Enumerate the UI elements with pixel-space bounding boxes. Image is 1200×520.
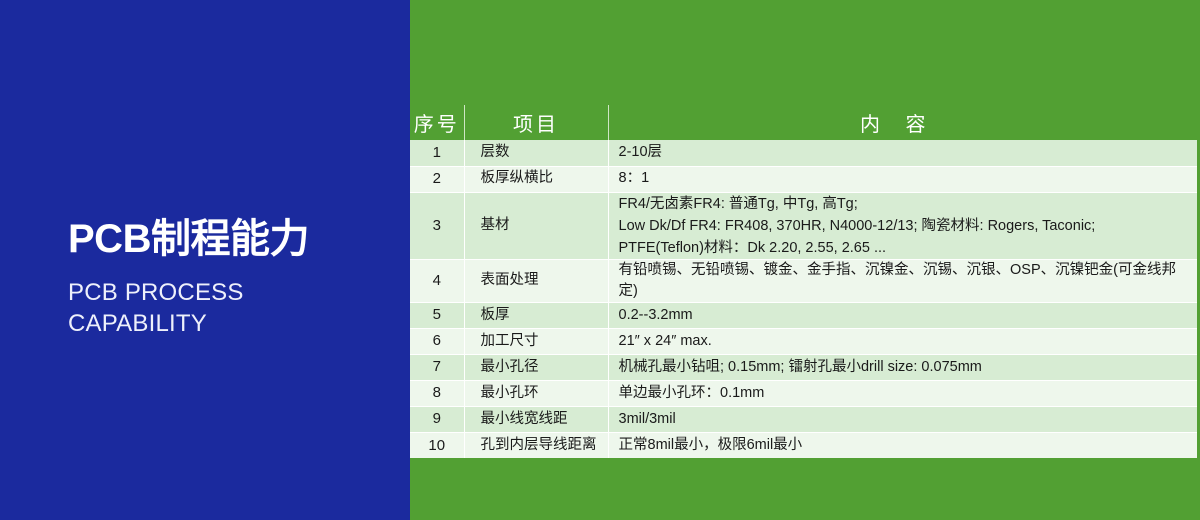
- table-row: 10孔到内层导线距离正常8mil最小，极限6mil最小: [410, 432, 1197, 458]
- cell-no: 2: [410, 166, 464, 192]
- table-header-row: 序号 项目 内 容: [410, 105, 1197, 140]
- cell-no: 5: [410, 302, 464, 328]
- title-block: PCB制程能力 PCB PROCESS CAPABILITY: [68, 218, 398, 339]
- cell-content: 8：1: [608, 166, 1197, 192]
- cell-content: 2-10层: [608, 140, 1197, 166]
- cell-content: 有铅喷锡、无铅喷锡、镀金、金手指、沉镍金、沉锡、沉银、OSP、沉镍钯金(可金线邦…: [608, 259, 1197, 302]
- cell-content: 机械孔最小钻咀; 0.15mm; 镭射孔最小drill size: 0.075m…: [608, 354, 1197, 380]
- column-header-item: 项目: [464, 105, 608, 140]
- table-row: 2板厚纵横比8：1: [410, 166, 1197, 192]
- cell-content: 0.2--3.2mm: [608, 302, 1197, 328]
- table-body: 1层数2-10层2板厚纵横比8：13基材FR4/无卤素FR4: 普通Tg, 中T…: [410, 140, 1197, 458]
- cell-item: 板厚: [464, 302, 608, 328]
- cell-no: 10: [410, 432, 464, 458]
- cell-item: 最小线宽线距: [464, 406, 608, 432]
- table-row: 1层数2-10层: [410, 140, 1197, 166]
- page-subtitle-line2: CAPABILITY: [68, 309, 398, 340]
- cell-item: 加工尺寸: [464, 328, 608, 354]
- table-row: 4表面处理有铅喷锡、无铅喷锡、镀金、金手指、沉镍金、沉锡、沉银、OSP、沉镍钯金…: [410, 259, 1197, 302]
- cell-content: 单边最小孔环：0.1mm: [608, 380, 1197, 406]
- page-subtitle-line1: PCB PROCESS: [68, 278, 398, 309]
- left-title-panel: PCB制程能力 PCB PROCESS CAPABILITY: [0, 0, 410, 520]
- table-row: 9最小线宽线距3mil/3mil: [410, 406, 1197, 432]
- table-row: 3基材FR4/无卤素FR4: 普通Tg, 中Tg, 高Tg; Low Dk/Df…: [410, 192, 1197, 259]
- cell-no: 1: [410, 140, 464, 166]
- cell-content: 21″ x 24″ max.: [608, 328, 1197, 354]
- cell-no: 4: [410, 259, 464, 302]
- cell-content: 3mil/3mil: [608, 406, 1197, 432]
- cell-item: 层数: [464, 140, 608, 166]
- cell-no: 3: [410, 192, 464, 259]
- slide-canvas: PCB制程能力 PCB PROCESS CAPABILITY 序号 项目 内 容…: [0, 0, 1200, 520]
- cell-item: 孔到内层导线距离: [464, 432, 608, 458]
- page-subtitle-english: PCB PROCESS CAPABILITY: [68, 278, 398, 339]
- cell-no: 7: [410, 354, 464, 380]
- table-row: 5板厚0.2--3.2mm: [410, 302, 1197, 328]
- cell-item: 表面处理: [464, 259, 608, 302]
- column-header-no: 序号: [410, 105, 464, 140]
- cell-item: 基材: [464, 192, 608, 259]
- table-row: 6加工尺寸21″ x 24″ max.: [410, 328, 1197, 354]
- cell-item: 板厚纵横比: [464, 166, 608, 192]
- cell-no: 9: [410, 406, 464, 432]
- page-title-chinese: PCB制程能力: [68, 218, 398, 260]
- cell-no: 8: [410, 380, 464, 406]
- cell-item: 最小孔径: [464, 354, 608, 380]
- cell-content: 正常8mil最小，极限6mil最小: [608, 432, 1197, 458]
- cell-item: 最小孔环: [464, 380, 608, 406]
- pcb-capability-table: 序号 项目 内 容 1层数2-10层2板厚纵横比8：13基材FR4/无卤素FR4…: [410, 105, 1197, 458]
- cell-no: 6: [410, 328, 464, 354]
- table-row: 8最小孔环单边最小孔环：0.1mm: [410, 380, 1197, 406]
- cell-content: FR4/无卤素FR4: 普通Tg, 中Tg, 高Tg; Low Dk/Df FR…: [608, 192, 1197, 259]
- table-header: 序号 项目 内 容: [410, 105, 1197, 140]
- column-header-content: 内 容: [608, 105, 1197, 140]
- table-row: 7最小孔径机械孔最小钻咀; 0.15mm; 镭射孔最小drill size: 0…: [410, 354, 1197, 380]
